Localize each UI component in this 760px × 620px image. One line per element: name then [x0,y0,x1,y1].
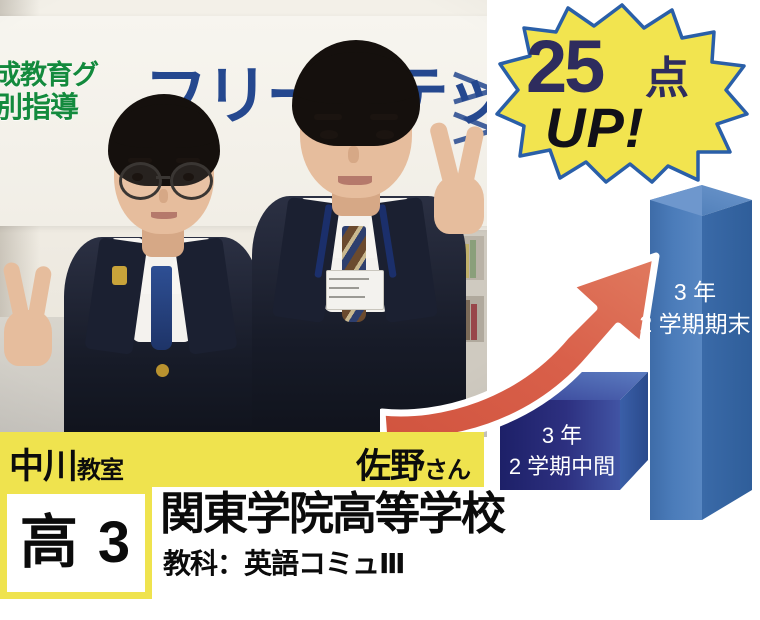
poster-root: 成教育グ 別指導 フリーステップ [0,0,760,620]
subject-name: 教科：英語コミュⅢ [163,549,404,580]
svg-text:2 学期中間: 2 学期中間 [509,454,615,479]
classroom-label: 中川教室 [9,438,123,489]
svg-text:2 学期期末: 2 学期期末 [639,311,750,337]
starburst-shape [494,2,750,184]
svg-text:3 年: 3 年 [542,423,582,448]
student-info-panel: 中川教室 佐野さん 高 3 関東学院高等学校 教科：英語コミュⅢ [0,432,484,620]
grade-value: 高 3 [20,514,132,572]
classroom-name: 中川 [9,447,77,486]
grade-box-frame: 高 3 [0,487,152,599]
bar-term2-final [650,185,752,520]
info-lower-row: 高 3 関東学院高等学校 教科：英語コミュⅢ [0,487,484,599]
points-up-badge: 25 点 UP! [494,2,750,184]
student-honorific: さん [424,457,470,484]
grade-box: 高 3 [7,494,145,592]
info-yellow-band: 中川教室 佐野さん [0,432,484,487]
svg-text:3 年: 3 年 [674,279,716,305]
school-name: 関東学院高等学校 [160,489,504,539]
student-name-label: 佐野さん [356,438,470,489]
classroom-suffix: 教室 [77,457,123,484]
student-name: 佐野 [356,447,424,486]
